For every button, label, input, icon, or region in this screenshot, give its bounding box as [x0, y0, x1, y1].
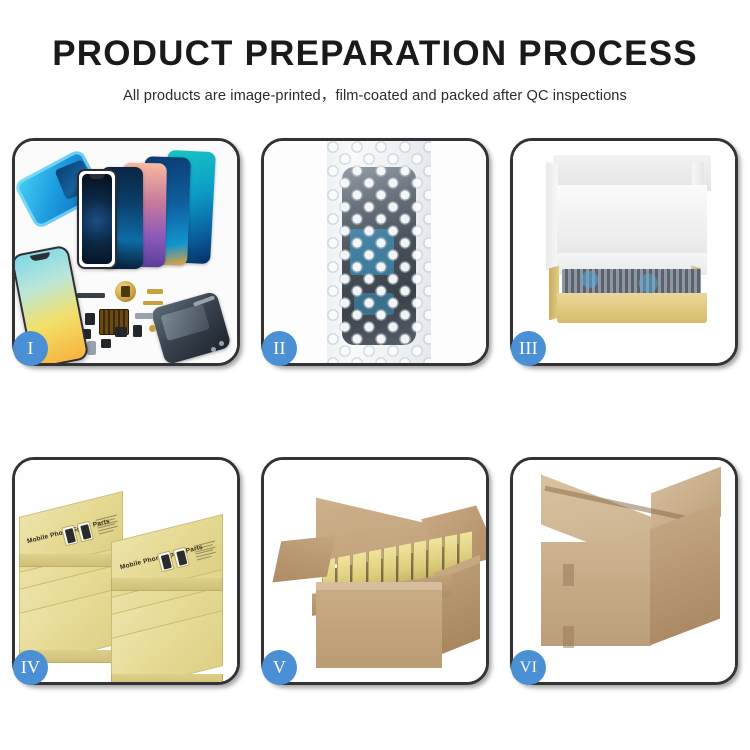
step-image-5	[264, 460, 486, 682]
carton-flap-left	[272, 536, 335, 583]
component-graphic	[77, 293, 105, 298]
component-graphic	[87, 341, 96, 355]
step-panel-4[interactable]: Mobile Phone Spare Parts Mobile Phone Sp…	[12, 457, 240, 685]
packed-product-graphic	[562, 269, 701, 295]
step-panel-6[interactable]: VI	[510, 457, 738, 685]
step-panel-1[interactable]: I	[12, 138, 240, 366]
step-image-1	[15, 141, 237, 363]
carton-tape-mark	[563, 564, 574, 586]
component-graphic	[147, 289, 163, 294]
step-badge-6: VI	[511, 650, 546, 685]
component-graphic	[115, 327, 127, 337]
step-panel-5[interactable]: V	[261, 457, 489, 685]
step-badge-1: I	[13, 331, 48, 366]
kraft-box-printed: Mobile Phone Spare Parts	[111, 528, 223, 584]
kraft-box-printed: Mobile Phone Spare Parts	[19, 504, 123, 560]
bubble-highlight-graphic	[327, 141, 431, 363]
step-image-4: Mobile Phone Spare Parts Mobile Phone Sp…	[15, 460, 237, 682]
phone-screen-graphic	[77, 169, 117, 269]
step-image-2	[264, 141, 486, 363]
carton-front-panel	[541, 542, 651, 646]
kraft-box	[111, 624, 223, 680]
kraft-box	[19, 600, 123, 656]
page-subtitle: All products are image-printed，film-coat…	[0, 84, 750, 105]
product-preparation-infographic: PRODUCT PREPARATION PROCESS All products…	[0, 0, 750, 750]
step-panel-3[interactable]: III	[510, 138, 738, 366]
step-badge-2: II	[262, 331, 297, 366]
component-graphic	[135, 313, 153, 319]
box-stack-graphic: Mobile Phone Spare Parts Mobile Phone Sp…	[19, 490, 237, 680]
carton-tape-mark	[563, 626, 574, 648]
header: PRODUCT PREPARATION PROCESS All products…	[0, 0, 750, 105]
carton-front-panel	[316, 590, 442, 668]
step-image-3	[513, 141, 735, 363]
step-badge-4: IV	[13, 650, 48, 685]
screw-graphic	[219, 341, 224, 346]
step-badge-3: III	[511, 331, 546, 366]
step-badge-5: V	[262, 650, 297, 685]
step-image-6	[513, 460, 735, 682]
page-title: PRODUCT PREPARATION PROCESS	[0, 36, 750, 73]
component-graphic	[143, 301, 163, 305]
box-front-graphic	[557, 293, 707, 323]
component-graphic	[85, 313, 95, 325]
speaker-component-graphic	[115, 281, 136, 302]
component-graphic	[101, 339, 111, 348]
component-graphic	[149, 325, 156, 332]
screw-graphic	[211, 347, 216, 352]
step-panel-2[interactable]: II	[261, 138, 489, 366]
process-steps-grid: I II	[12, 138, 738, 686]
component-graphic	[133, 325, 142, 337]
